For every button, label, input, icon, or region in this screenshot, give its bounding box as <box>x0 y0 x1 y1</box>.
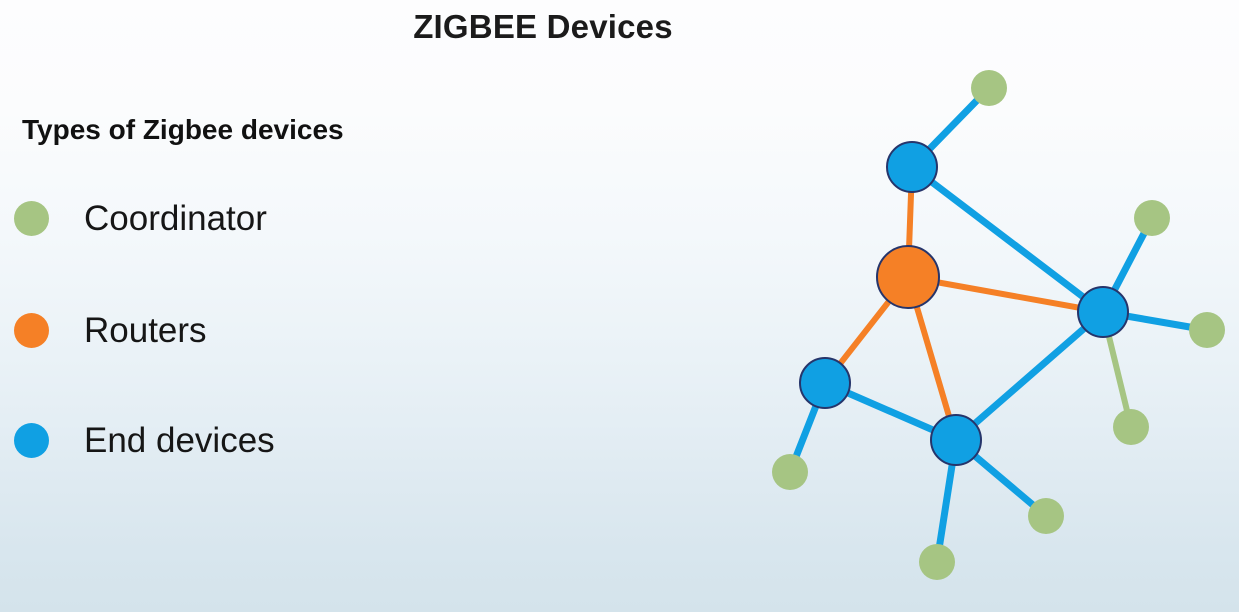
network-edge <box>956 312 1103 440</box>
legend-item-label: Routers <box>84 313 207 348</box>
network-node-coordinator[interactable]: Coordinator <box>1028 498 1064 534</box>
network-node-coordinator[interactable]: Coordinator <box>919 544 955 580</box>
green-circle-icon <box>14 201 49 236</box>
network-node-end-device[interactable]: End devices <box>887 142 937 192</box>
network-node-coordinator[interactable]: Coordinator <box>772 454 808 490</box>
legend-item-routers[interactable]: Routers <box>14 310 207 350</box>
network-node-end-device[interactable]: End devices <box>931 415 981 465</box>
zigbee-mesh-network-diagram: RoutersEnd devicesEnd devicesEnd devices… <box>745 40 1239 612</box>
network-edge-layer <box>790 88 1207 562</box>
network-node-end-device[interactable]: End devices <box>1078 287 1128 337</box>
legend-item-coordinator[interactable]: Coordinator <box>14 198 267 238</box>
blue-circle-icon <box>14 423 49 458</box>
orange-circle-icon <box>14 313 49 348</box>
legend-item-label: Coordinator <box>84 201 267 236</box>
network-node-coordinator[interactable]: Coordinator <box>1134 200 1170 236</box>
network-node-coordinator[interactable]: Coordinator <box>1189 312 1225 348</box>
network-node-coordinator[interactable]: Coordinator <box>1113 409 1149 445</box>
network-node-end-device[interactable]: End devices <box>800 358 850 408</box>
network-node-router[interactable]: Routers <box>877 246 939 308</box>
legend-heading: Types of Zigbee devices <box>22 114 344 146</box>
legend-item-label: End devices <box>84 423 275 458</box>
network-edge <box>912 167 1103 312</box>
legend-item-end-devices[interactable]: End devices <box>14 420 275 460</box>
slide-canvas: ZIGBEE Devices Types of Zigbee devices C… <box>0 0 1239 612</box>
network-node-coordinator[interactable]: Coordinator <box>971 70 1007 106</box>
network-node-layer: RoutersEnd devicesEnd devicesEnd devices… <box>772 70 1225 580</box>
